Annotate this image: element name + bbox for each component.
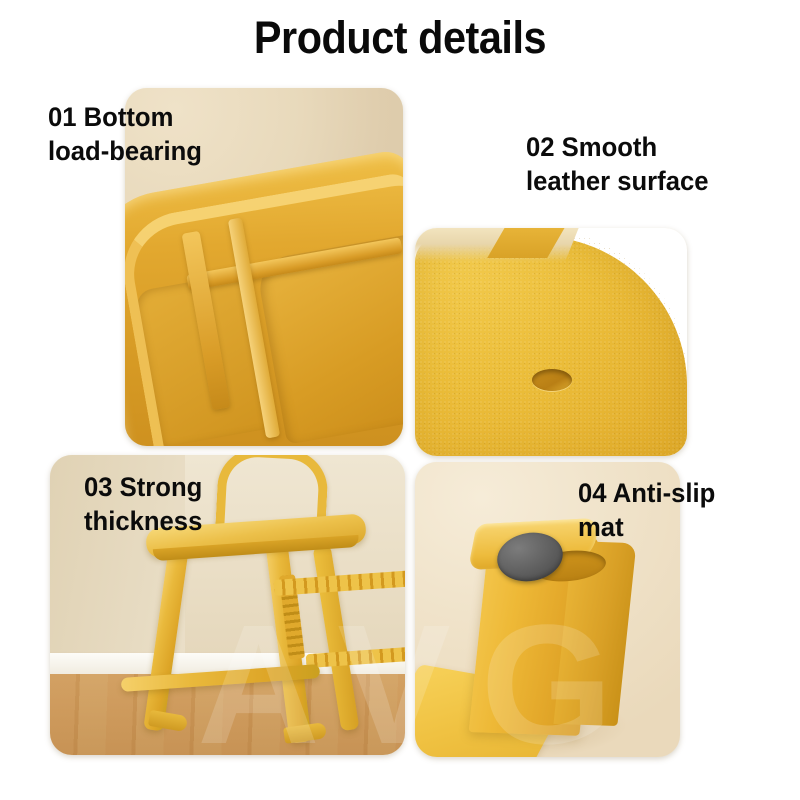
feature-image-02 [415,228,687,456]
feature-caption-02: 02 Smooth leather surface [526,130,709,198]
feature-panel-02[interactable] [415,228,687,456]
feature-caption-04: 04 Anti-slip mat [578,476,715,544]
page-title: Product details [32,12,768,64]
feature-caption-03: 03 Strong thickness [84,470,202,538]
feature-caption-01: 01 Bottom load-bearing [48,100,202,168]
